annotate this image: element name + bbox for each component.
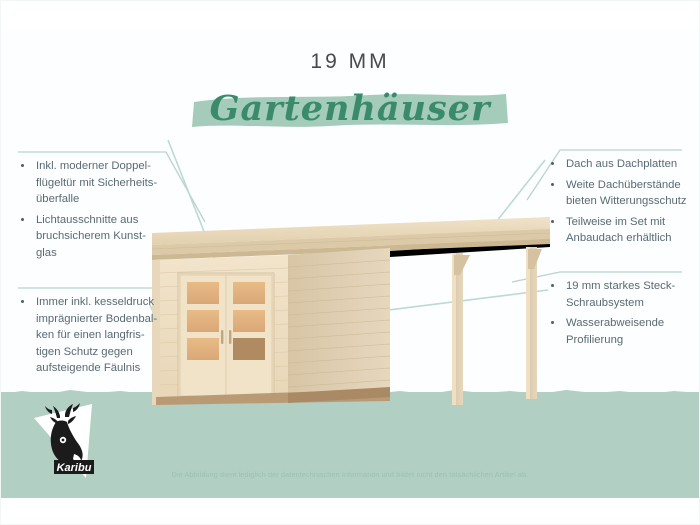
list-item: 19 mm starkes Steck- Schraubsystem xyxy=(548,278,698,311)
list-item: Dach aus Dachplatten xyxy=(548,156,698,173)
footer-disclaimer: Die Abbildung dient lediglich der datent… xyxy=(0,470,700,479)
page-title-script: Gartenhäuser xyxy=(190,86,510,132)
callout-text: Wasserabweisende Profilierung xyxy=(566,317,664,346)
product-title-group: Gartenhäuser xyxy=(190,86,510,134)
canopy-post-right xyxy=(526,247,537,399)
canopy-post-left xyxy=(452,253,463,405)
callout-top-right: Dach aus Dachplatten Weite Dachüberständ… xyxy=(548,156,698,251)
callout-text: Inkl. moderner Doppel- flügeltür mit Sic… xyxy=(36,160,157,205)
callout-text: 19 mm starkes Steck- Schraubsystem xyxy=(566,280,675,309)
double-glass-door xyxy=(178,273,274,398)
side-wall xyxy=(288,248,390,401)
callout-text: Lichtausschnitte aus bruchsicherem Kunst… xyxy=(36,214,146,259)
page-title-thickness: 19 MM xyxy=(0,50,700,74)
list-item: Immer inkl. kesseldruck imprägnierter Bo… xyxy=(18,294,178,377)
garden-house-illustration xyxy=(150,215,550,405)
callout-bottom-right: 19 mm starkes Steck- Schraubsystem Wasse… xyxy=(548,278,698,352)
list-item: Wasserabweisende Profilierung xyxy=(548,315,698,348)
callout-text: Immer inkl. kesseldruck imprägnierter Bo… xyxy=(36,296,157,374)
list-item: Lichtausschnitte aus bruchsicherem Kunst… xyxy=(18,212,178,262)
callout-bottom-left: Immer inkl. kesseldruck imprägnierter Bo… xyxy=(18,294,178,381)
callout-text: Teilweise im Set mit Anbaudach erhältlic… xyxy=(566,216,672,245)
callout-text: Dach aus Dachplatten xyxy=(566,158,677,170)
poster-canvas: 19 MM Gartenhäuser xyxy=(0,0,700,525)
list-item: Teilweise im Set mit Anbaudach erhältlic… xyxy=(548,214,698,247)
list-item: Weite Dachüberstände bieten Witterungssc… xyxy=(548,177,698,210)
callout-text: Weite Dachüberstände bieten Witterungssc… xyxy=(566,179,687,208)
list-item: Inkl. moderner Doppel- flügeltür mit Sic… xyxy=(18,158,178,208)
callout-top-left: Inkl. moderner Doppel- flügeltür mit Sic… xyxy=(18,158,178,266)
bottom-white-strip xyxy=(0,498,700,525)
